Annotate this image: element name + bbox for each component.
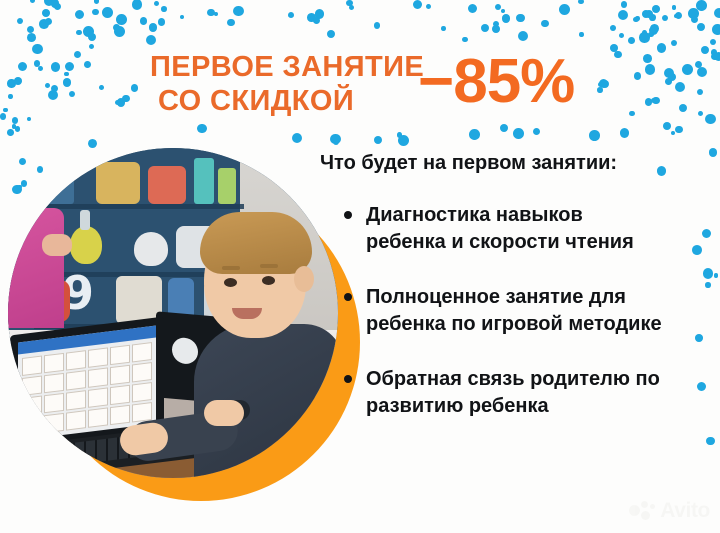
decorative-dot [88,33,96,41]
decorative-dot [598,82,603,87]
decorative-dot [39,19,49,29]
decorative-dot [69,91,75,97]
photo-app-card [44,393,64,413]
decorative-dot [672,5,677,10]
decorative-dot [639,32,649,42]
photo-laptop-display [18,326,156,441]
decorative-dot [132,0,142,10]
benefit-item: Обратная связь родителю по развитию ребе… [316,366,708,420]
decorative-dot [15,126,21,132]
decorative-dot [691,16,698,23]
decorative-dot [652,5,660,13]
decorative-dot [679,104,687,112]
decorative-dot [634,72,642,80]
decorative-dot [541,20,548,27]
decorative-dot [500,124,508,132]
avito-watermark: Avito [629,499,710,523]
photo-boy-hair [200,212,312,274]
photo-boy-eye [262,276,275,285]
decorative-dot [513,128,524,139]
decorative-dot [559,4,570,15]
photo-app-card [132,402,152,422]
bullet-icon [344,293,352,301]
decorative-dot [610,25,616,31]
decorative-dot [140,17,148,25]
decorative-dot [114,26,125,37]
photo-app-card [110,345,130,365]
decorative-dot [621,1,628,8]
decorative-dot [614,51,621,58]
decorative-dot [711,49,718,56]
decorative-dot [27,117,31,121]
decorative-dot [12,124,16,128]
decorative-dot [597,87,602,92]
decorative-dot [315,9,325,19]
decorative-dot [701,46,709,54]
photo-app-card [22,356,42,376]
headline: ПЕРВОЕ ЗАНЯТИЕ СО СКИДКОЙ [150,50,424,118]
photo-app-card [88,407,108,427]
decorative-dot [589,130,600,141]
decorative-dot [117,98,126,107]
decorative-dot [115,100,120,105]
decorative-dot [65,62,74,71]
photo-app-card [22,396,42,416]
decorative-dot [83,26,94,37]
decorative-dot [374,136,382,144]
photo-flask [134,232,168,266]
avito-logo-icon [629,501,655,521]
decorative-dot [671,131,675,135]
decorative-dot [54,3,62,11]
decorative-dot [7,129,14,136]
decorative-dot [664,68,674,78]
decorative-dot [313,17,320,24]
decorative-dot [102,7,113,18]
benefit-text: Обратная связь родителю по развитию ребе… [366,366,666,420]
decorative-dot [180,15,184,19]
decorative-dot [154,1,159,6]
benefit-item: Полноценное занятие для ребенка по игров… [316,284,708,338]
photo-laptop-sticker [172,337,198,365]
decorative-dot [635,16,639,20]
headline-line-1: ПЕРВОЕ ЗАНЯТИЕ [150,50,424,84]
decorative-dot [705,114,716,125]
decorative-dot [426,4,431,9]
photo-shelf-object [148,166,186,204]
decorative-dot [346,0,353,6]
photo-app-card [44,373,64,393]
decorative-dot [116,14,127,25]
photo-app-card [88,387,108,407]
decorative-dot [648,32,654,38]
decorative-dot [0,113,6,119]
decorative-dot [643,54,652,63]
decorative-dot [671,40,677,46]
decorative-dot [94,0,99,4]
decorative-dot [645,10,653,18]
decorative-dot [307,13,316,22]
decorative-dot [633,17,638,22]
photo-shelf-object [48,170,74,204]
decorative-dot [668,73,676,81]
photo-shelf-object [218,168,236,204]
decorative-dot [665,78,672,85]
decorative-dot [330,134,340,144]
decorative-dot [695,61,703,69]
decorative-dot [8,94,13,99]
photo-app-card-grid [22,342,152,436]
decorative-dot [698,111,703,116]
decorative-dot [51,0,60,8]
decorative-dot [122,95,130,103]
decorative-dot [688,8,699,19]
decorative-dot [642,10,650,18]
decorative-dot [629,111,635,117]
decorative-dot [74,51,81,58]
decorative-dot [628,37,635,44]
decorative-dot [697,89,703,95]
decorative-dot [51,62,60,71]
photo-boy-eyebrow [260,264,278,268]
decorative-dot [42,9,50,17]
photo-shelf-object [194,158,214,204]
decorative-dot [481,24,489,32]
decorative-dot [503,16,507,20]
decorative-dot [650,24,659,33]
decorative-dot [131,84,139,92]
decorative-dot [619,33,624,38]
decorative-dot [578,0,583,4]
decorative-dot [662,15,668,21]
photo-app-card [88,367,108,387]
decorative-dot [649,14,655,20]
decorative-dot [645,98,652,105]
decorative-dot [710,39,716,45]
decorative-dot [675,82,685,92]
decorative-dot [27,26,34,33]
decorative-dot [99,85,104,90]
decorative-dot [657,43,667,53]
decorative-dot [38,66,43,71]
decorative-dot [89,44,94,49]
photo-app-card [132,382,152,402]
content-heading: Что будет на первом занятии: [320,150,708,176]
benefit-item: Диагностика навыков ребенка и скорости ч… [316,202,708,256]
photo-flask [70,226,102,264]
photo-app-card [88,347,108,367]
decorative-dot [674,14,678,18]
decorative-dot [18,62,27,71]
benefit-text: Диагностика навыков ребенка и скорости ч… [366,202,666,256]
bullet-icon [344,211,352,219]
decorative-dot [349,5,354,10]
decorative-dot [495,4,501,10]
decorative-dot [413,0,422,9]
decorative-dot [492,25,500,33]
decorative-dot [493,21,499,27]
discount-badge: −85% [418,50,574,114]
decorative-dot [27,33,36,42]
decorative-dot [45,18,52,25]
student-photo: 9 [8,148,338,478]
decorative-dot [292,133,302,143]
photo-boy-eyebrow [222,266,240,270]
promo-banner: 9 [0,0,720,533]
decorative-dot [233,6,243,16]
photo-app-card [132,362,152,382]
bullet-icon [344,375,352,383]
decorative-dot [682,64,693,75]
decorative-dot [642,30,647,35]
decorative-dot [645,64,655,74]
decorative-dot [620,128,629,137]
photo-app-card [132,342,152,362]
photo-scene: 9 [8,148,338,478]
decorative-dot [714,8,720,18]
decorative-dot [7,79,15,87]
decorative-dot [649,26,658,35]
decorative-dot [3,108,8,113]
decorative-dot [75,10,84,19]
decorative-dot [696,0,707,11]
photo-shelf [34,204,244,209]
decorative-dot [32,44,43,55]
decorative-dot [30,0,35,3]
decorative-dot [462,37,468,43]
decorative-dot [92,9,99,16]
decorative-dot [207,9,215,17]
decorative-dot [48,90,58,100]
decorative-dot [441,26,446,31]
decorative-dot [579,32,583,36]
decorative-dot [197,124,206,133]
decorative-dot [12,117,19,124]
decorative-dot [502,14,510,22]
photo-app-card [66,350,86,370]
decorative-dot [709,148,718,157]
decorative-dot [601,80,609,88]
decorative-dot [227,19,235,27]
photo-app-card [44,353,64,373]
avito-watermark-text: Avito [660,499,710,523]
decorative-dot [398,135,409,146]
decorative-dot [76,30,81,35]
decorative-dot [533,128,540,135]
photo-app-card [66,370,86,390]
decorative-dot [374,22,381,29]
decorative-dot [149,23,157,31]
photo-background-person [8,208,64,328]
decorative-dot [34,60,40,66]
decorative-dot [45,83,50,88]
headline-line-2: СО СКИДКОЙ [150,84,424,118]
decorative-dot [697,23,705,31]
photo-boy-eye [224,278,237,287]
decorative-dot [64,72,68,76]
decorative-dot [327,30,335,38]
decorative-dot [711,53,718,60]
decorative-dot [113,24,120,31]
decorative-dot [146,35,156,45]
photo-boy-hand [204,400,244,426]
decorative-dot [51,85,58,92]
photo-app-card [22,376,42,396]
decorative-dot [501,9,505,13]
photo-app-card [110,365,130,385]
photo-app-card [110,405,130,425]
photo-app-card [110,385,130,405]
decorative-dot [518,31,528,41]
decorative-dot [214,12,218,16]
decorative-dot [88,139,97,148]
photo-background-person-hand [42,234,72,256]
decorative-dot [333,139,339,145]
decorative-dot [63,78,72,87]
decorative-dot [663,122,671,130]
decorative-dot [468,4,477,13]
decorative-dot [712,24,720,35]
photo-app-card [22,416,42,436]
decorative-dot [84,61,91,68]
photo-boy-ear [294,266,314,292]
photo-flask-neck [80,210,90,230]
decorative-dot [714,52,720,61]
photo-app-card [66,390,86,410]
photo-app-card [66,410,86,430]
decorative-dot [516,14,525,23]
decorative-dot [599,79,609,89]
photo-app-card [44,413,64,433]
decorative-dot [44,0,54,6]
photo-shelf-object [96,162,140,204]
decorative-dot [288,12,294,18]
decorative-dot [652,97,659,104]
content-panel: Что будет на первом занятии: Диагностика… [316,150,708,448]
decorative-dot [618,10,628,20]
decorative-dot [610,44,618,52]
decorative-dot [675,12,682,19]
decorative-dot [397,132,403,138]
decorative-dot [651,98,657,104]
decorative-dot [469,129,480,140]
decorative-dot [17,18,23,24]
decorative-dot [158,18,165,25]
benefit-text: Полноценное занятие для ребенка по игров… [366,284,666,338]
decorative-dot [161,6,166,11]
decorative-dot [714,273,718,277]
decorative-dot [697,67,707,77]
decorative-dot [14,77,22,85]
decorative-dot [675,126,682,133]
